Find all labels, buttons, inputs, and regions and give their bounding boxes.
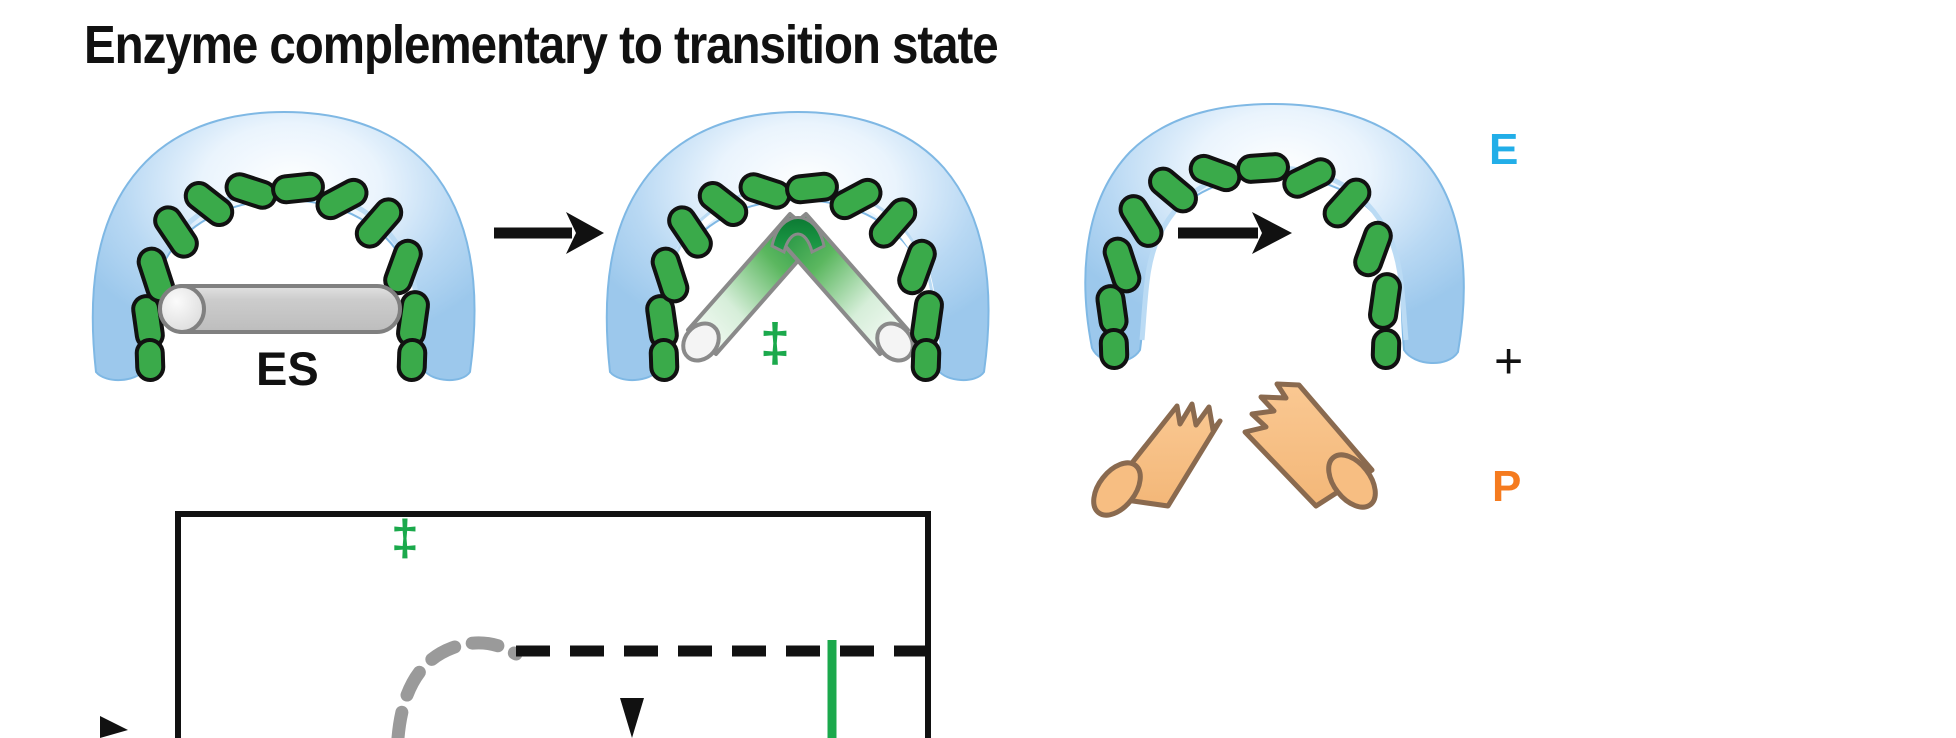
plus-sign: +: [1494, 332, 1523, 390]
enzyme-label: E: [1489, 125, 1518, 175]
product-label: P: [1492, 462, 1521, 512]
es-complex-label: ES: [256, 342, 319, 395]
product-fragment-left: [1084, 404, 1220, 524]
reaction-arrow-1: [494, 212, 604, 254]
enzyme-substrate-complex: [93, 112, 475, 380]
axis-pointer: [100, 716, 128, 738]
substrate-cylinder: [160, 286, 400, 332]
uncatalyzed-energy-curve: [398, 643, 516, 738]
activation-energy-arrow: [620, 698, 644, 738]
transition-state-dagger-symbol: ‡: [760, 316, 790, 370]
transition-state-complex: [607, 112, 989, 380]
figure-canvas: Enzyme complementary to transition state: [0, 0, 1956, 738]
graph-transition-state-dagger-symbol: ‡: [391, 513, 419, 563]
product-fragments: [1084, 384, 1384, 524]
substrate-cap: [160, 286, 204, 332]
reaction-arrow-2: [1178, 212, 1292, 254]
schematic-svg: ES: [0, 0, 1956, 738]
reaction-coordinate-diagram: [100, 514, 934, 738]
product-fragment-right: [1245, 384, 1385, 516]
